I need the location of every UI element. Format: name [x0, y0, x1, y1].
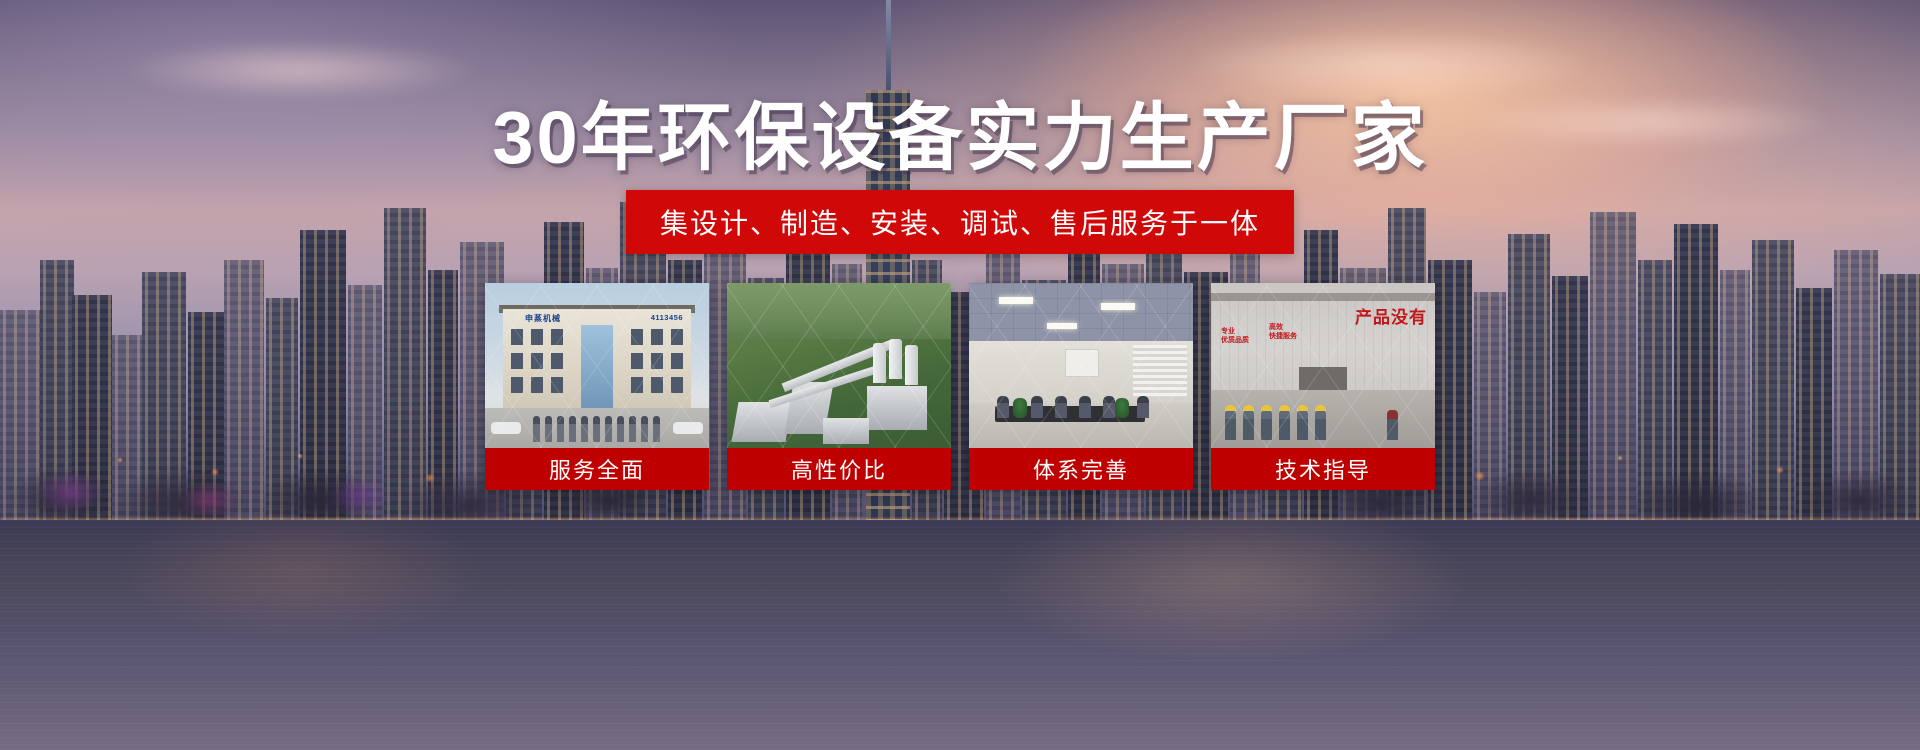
factory-wall-headline: 产品没有 — [1355, 303, 1427, 328]
factory-workers-photo: 产品没有 专业优质品质 高效快捷服务 — [1211, 283, 1435, 448]
subtitle-banner: 集设计、制造、安装、调试、售后服务于一体 — [626, 190, 1294, 254]
building-sign-text: 申蒸机械 — [525, 313, 561, 324]
office-meeting-photo — [969, 283, 1193, 448]
building-phone-text: 4113456 — [651, 313, 683, 322]
page-title: 30年环保设备实力生产厂家 — [0, 97, 1920, 178]
feature-card[interactable]: 申蒸机械 4113456 — [485, 283, 709, 490]
water-reflections — [0, 520, 1920, 750]
card-caption: 体系完善 — [969, 448, 1193, 490]
feature-card-list: 申蒸机械 4113456 — [485, 283, 1435, 490]
card-caption: 服务全面 — [485, 448, 709, 490]
feature-card[interactable]: 高性价比 — [727, 283, 951, 490]
factory-slogan-left: 专业优质品质 — [1221, 327, 1249, 346]
aerial-plant-photo — [727, 283, 951, 448]
company-headquarters-photo: 申蒸机械 4113456 — [485, 283, 709, 448]
feature-card[interactable]: 体系完善 — [969, 283, 1193, 490]
factory-slogan-right: 高效快捷服务 — [1269, 323, 1297, 342]
hero-banner: 30年环保设备实力生产厂家 集设计、制造、安装、调试、售后服务于一体 申蒸机械 … — [0, 0, 1920, 750]
card-caption: 技术指导 — [1211, 448, 1435, 490]
card-caption: 高性价比 — [727, 448, 951, 490]
feature-card[interactable]: 产品没有 专业优质品质 高效快捷服务 技术指导 — [1211, 283, 1435, 490]
